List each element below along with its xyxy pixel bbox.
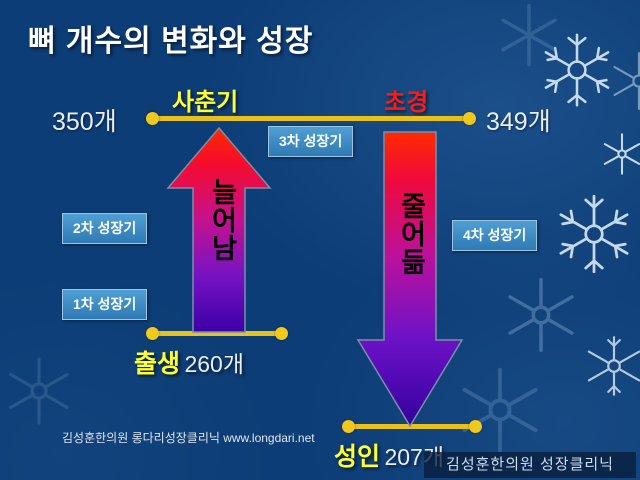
milestone-birth-name: 출생: [134, 350, 180, 378]
snowflake-icon: [498, 272, 584, 358]
milestone-adult-name: 성인: [334, 443, 380, 471]
snowflake-icon: [596, 128, 640, 180]
count-value-right: 349개: [486, 102, 551, 138]
milestone-birth: 출생 260개: [134, 344, 244, 380]
count-value-left: 350개: [52, 102, 117, 138]
snowflake-icon: [604, 46, 640, 116]
stage-label-menarche: 초경: [384, 82, 428, 117]
snowflake-icon: [0, 352, 78, 430]
page-title: 뼈 개수의 변화와 성장: [28, 16, 313, 60]
level-line-peak: [152, 116, 470, 121]
watermark-banner: 김성훈한의원 성장클리닉: [424, 452, 636, 478]
arrow-up-label: 늘어남: [203, 178, 242, 262]
milestone-birth-value: 260개: [184, 351, 244, 377]
arrow-down-label: 줄어듦: [392, 192, 431, 276]
arrow-down-decrease: [356, 130, 464, 428]
snowflake-icon: [452, 362, 548, 458]
snowflake-icon: [494, 0, 564, 70]
footer-credit: 김성훈한의원 롱다리성장클리닉 www.longdari.net: [62, 429, 315, 446]
phase-chip-2[interactable]: 2차 성장기: [62, 213, 147, 244]
snowflake-icon: [578, 330, 640, 402]
stage-label-puberty: 사춘기: [172, 82, 238, 117]
snowflake-icon: [535, 28, 619, 112]
snowflake-icon: [548, 188, 640, 280]
slide-canvas: 뼈 개수의 변화와 성장 사춘기 초경 350개 349개 늘어남: [0, 0, 640, 480]
phase-chip-1[interactable]: 1차 성장기: [62, 289, 147, 320]
phase-chip-3[interactable]: 3차 성장기: [268, 126, 353, 157]
phase-chip-4[interactable]: 4차 성장기: [452, 220, 537, 251]
